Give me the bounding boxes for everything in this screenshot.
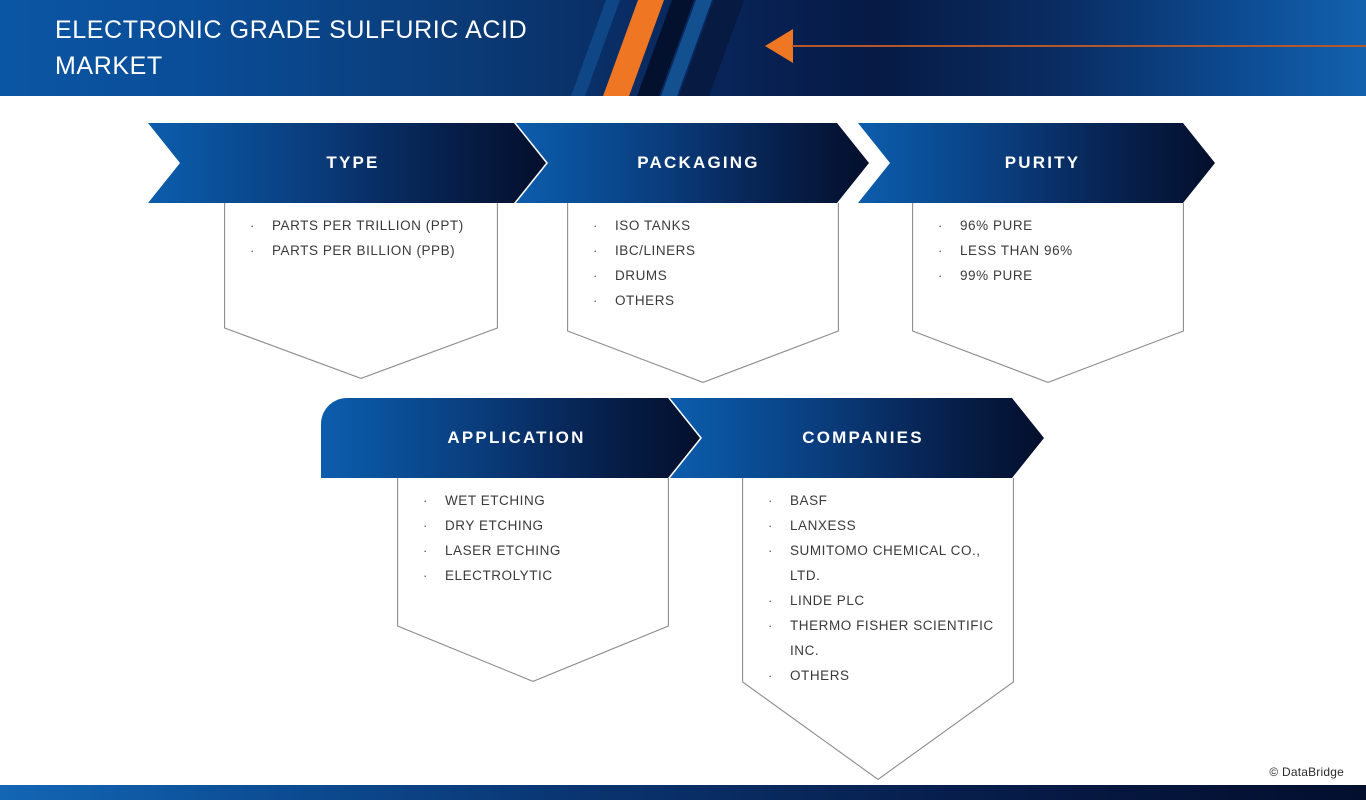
bullet-icon: ·	[938, 263, 960, 288]
bullet-icon: ·	[768, 613, 790, 638]
list-item-label: ELECTROLYTIC	[445, 563, 655, 588]
segment-banner-packaging[interactable]: PACKAGING	[516, 123, 869, 203]
list-item: · PARTS PER TRILLION (PPT)	[250, 213, 484, 238]
bullet-icon: ·	[250, 238, 272, 263]
list-item: · 96% PURE	[938, 213, 1170, 238]
bullet-icon: ·	[768, 513, 790, 538]
list-item-label: THERMO FISHER SCIENTIFIC INC.	[790, 613, 1000, 663]
bullet-icon: ·	[768, 588, 790, 613]
segment-title-packaging: PACKAGING	[637, 153, 759, 173]
bullet-icon: ·	[593, 288, 615, 313]
list-item-label: ISO TANKS	[615, 213, 825, 238]
bullet-icon: ·	[423, 563, 445, 588]
list-item-label: PARTS PER BILLION (PPB)	[272, 238, 484, 263]
list-item-label: LANXESS	[790, 513, 1000, 538]
list-item: · BASF	[768, 488, 1000, 513]
list-item: · 99% PURE	[938, 263, 1170, 288]
list-item: · WET ETCHING	[423, 488, 655, 513]
list-item-label: LESS THAN 96%	[960, 238, 1170, 263]
bullet-icon: ·	[938, 238, 960, 263]
bullet-icon: ·	[938, 213, 960, 238]
footer-bar	[0, 785, 1366, 800]
bullet-icon: ·	[768, 663, 790, 688]
segment-banner-type[interactable]: TYPE	[148, 123, 546, 203]
list-item: · LASER ETCHING	[423, 538, 655, 563]
bullet-icon: ·	[593, 263, 615, 288]
copyright-credit: © DataBridge	[1269, 765, 1344, 779]
list-item: · LINDE PLC	[768, 588, 1000, 613]
segment-title-type: TYPE	[326, 153, 379, 173]
header-accent-line	[792, 45, 1366, 47]
segment-panel-companies: · BASF · LANXESS · SUMITOMO CHEMICAL CO.…	[742, 478, 1014, 780]
list-item-label: OTHERS	[615, 288, 825, 313]
segment-banner-purity[interactable]: PURITY	[858, 123, 1215, 203]
segment-banner-companies[interactable]: COMPANIES	[670, 398, 1044, 478]
list-item: · LANXESS	[768, 513, 1000, 538]
list-item: · OTHERS	[768, 663, 1000, 688]
infographic-stage: ELECTRONIC GRADE SULFURIC ACID MARKET TY…	[0, 0, 1366, 800]
segment-title-companies: COMPANIES	[802, 428, 924, 448]
list-item: · IBC/LINERS	[593, 238, 825, 263]
list-item: · ELECTROLYTIC	[423, 563, 655, 588]
list-item-label: DRUMS	[615, 263, 825, 288]
list-item-label: 96% PURE	[960, 213, 1170, 238]
list-item: · DRUMS	[593, 263, 825, 288]
bullet-icon: ·	[423, 513, 445, 538]
list-item-label: IBC/LINERS	[615, 238, 825, 263]
segment-list-type: · PARTS PER TRILLION (PPT) · PARTS PER B…	[250, 213, 484, 263]
left-arrow-icon	[765, 29, 793, 63]
bullet-icon: ·	[250, 213, 272, 238]
bullet-icon: ·	[768, 488, 790, 513]
list-item: · THERMO FISHER SCIENTIFIC INC.	[768, 613, 1000, 663]
segment-panel-packaging: · ISO TANKS · IBC/LINERS · DRUMS · OTHER…	[567, 203, 839, 383]
bullet-icon: ·	[768, 538, 790, 563]
list-item: · SUMITOMO CHEMICAL CO., LTD.	[768, 538, 1000, 588]
segment-list-purity: · 96% PURE · LESS THAN 96% · 99% PURE	[938, 213, 1170, 288]
segment-list-application: · WET ETCHING · DRY ETCHING · LASER ETCH…	[423, 488, 655, 588]
page-title: ELECTRONIC GRADE SULFURIC ACID MARKET	[55, 12, 585, 84]
list-item: · OTHERS	[593, 288, 825, 313]
bullet-icon: ·	[593, 213, 615, 238]
segment-panel-application: · WET ETCHING · DRY ETCHING · LASER ETCH…	[397, 478, 669, 682]
list-item-label: BASF	[790, 488, 1000, 513]
list-item: · ISO TANKS	[593, 213, 825, 238]
list-item-label: LINDE PLC	[790, 588, 1000, 613]
segment-list-companies: · BASF · LANXESS · SUMITOMO CHEMICAL CO.…	[768, 488, 1000, 688]
segment-panel-purity: · 96% PURE · LESS THAN 96% · 99% PURE	[912, 203, 1184, 383]
list-item: · PARTS PER BILLION (PPB)	[250, 238, 484, 263]
list-item: · LESS THAN 96%	[938, 238, 1170, 263]
list-item-label: WET ETCHING	[445, 488, 655, 513]
list-item-label: OTHERS	[790, 663, 1000, 688]
page-header: ELECTRONIC GRADE SULFURIC ACID MARKET	[0, 0, 1366, 96]
bullet-icon: ·	[423, 488, 445, 513]
list-item-label: 99% PURE	[960, 263, 1170, 288]
list-item-label: LASER ETCHING	[445, 538, 655, 563]
bullet-icon: ·	[423, 538, 445, 563]
list-item: · DRY ETCHING	[423, 513, 655, 538]
bullet-icon: ·	[593, 238, 615, 263]
segment-banner-application[interactable]: APPLICATION	[321, 398, 700, 478]
segment-list-packaging: · ISO TANKS · IBC/LINERS · DRUMS · OTHER…	[593, 213, 825, 313]
segment-title-purity: PURITY	[1005, 153, 1081, 173]
list-item-label: PARTS PER TRILLION (PPT)	[272, 213, 484, 238]
segment-panel-type: · PARTS PER TRILLION (PPT) · PARTS PER B…	[224, 203, 498, 379]
list-item-label: DRY ETCHING	[445, 513, 655, 538]
segment-title-application: APPLICATION	[447, 428, 585, 448]
list-item-label: SUMITOMO CHEMICAL CO., LTD.	[790, 538, 1000, 588]
